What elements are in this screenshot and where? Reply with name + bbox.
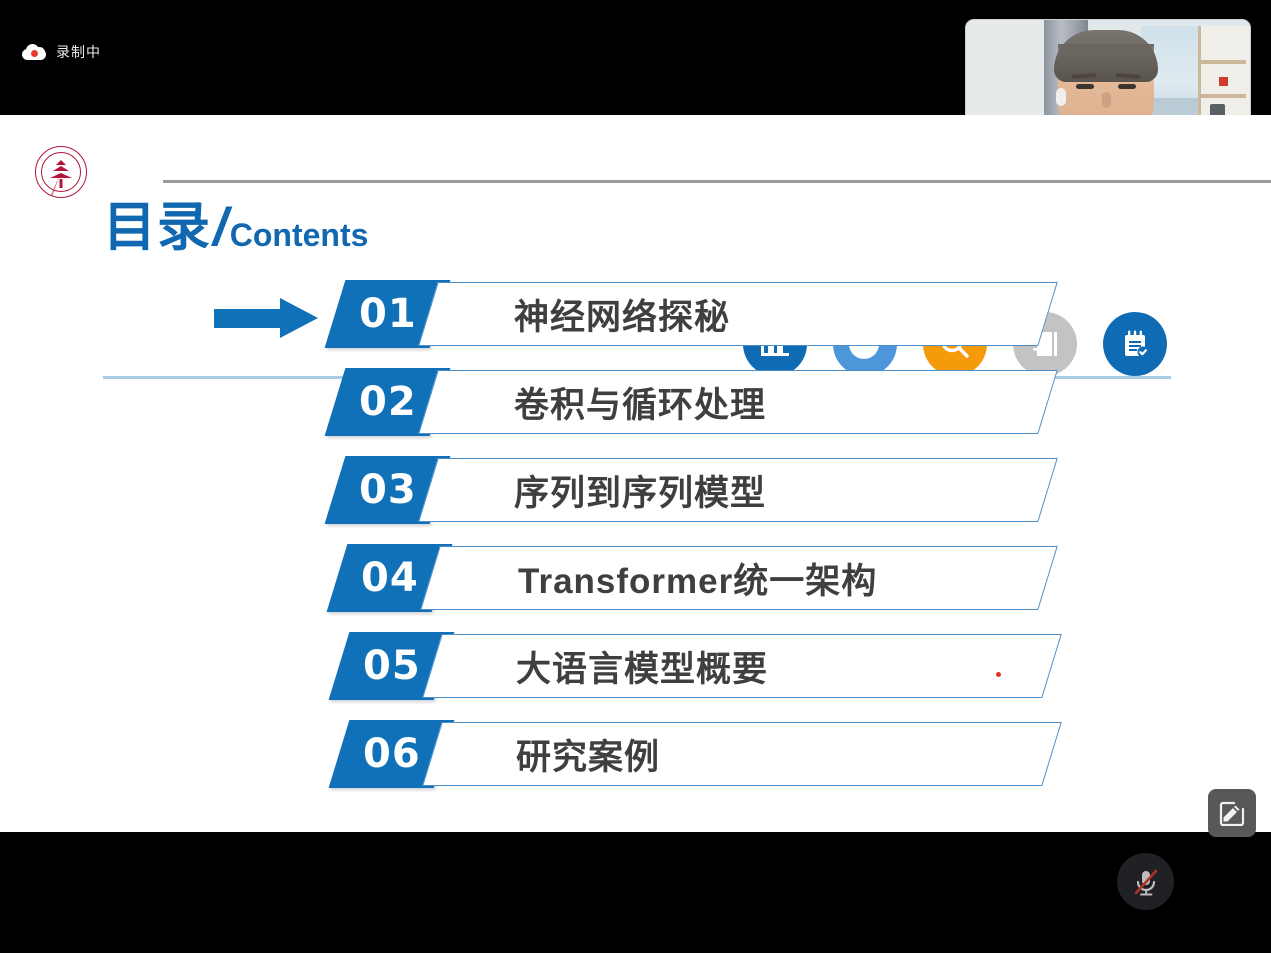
header-divider — [163, 180, 1271, 183]
current-item-arrow-icon — [214, 298, 319, 338]
annotation-dot — [996, 672, 1001, 677]
video-person-hair-shade — [1058, 44, 1154, 66]
recording-indicator: 录制中 — [22, 42, 101, 62]
contents-item-04[interactable]: 04 Transformer统一架构 — [0, 544, 1271, 632]
page-title-slash: / — [211, 201, 230, 254]
item-label: 序列到序列模型 — [514, 458, 766, 522]
page-title: 目录 / Contents — [103, 201, 368, 254]
cloud-record-icon — [22, 44, 46, 60]
video-person-eye — [1118, 84, 1136, 89]
contents-item-05[interactable]: 05 大语言模型概要 — [0, 632, 1271, 720]
item-label: 大语言模型概要 — [516, 634, 768, 698]
contents-item-02[interactable]: 02 卷积与循环处理 — [0, 368, 1271, 456]
video-person-nose — [1102, 92, 1111, 108]
contents-item-01[interactable]: 01 神经网络探秘 — [0, 280, 1271, 368]
page-title-cn: 目录 — [103, 201, 211, 254]
page-title-en: Contents — [230, 219, 369, 254]
contents-item-06[interactable]: 06 研究案例 — [0, 720, 1271, 808]
item-label: Transformer统一架构 — [518, 546, 877, 610]
video-horse-figurine — [1219, 77, 1228, 86]
contents-item-03[interactable]: 03 序列到序列模型 — [0, 456, 1271, 544]
video-person-eye — [1076, 84, 1094, 89]
university-logo — [35, 146, 87, 198]
item-label: 神经网络探秘 — [514, 282, 730, 346]
contents-list: 01 神经网络探秘 02 卷积与循环处理 03 序列到序列模型 — [0, 280, 1271, 808]
presentation-slide: 目录 / Contents — [0, 115, 1271, 832]
video-shelf-plank — [1200, 60, 1246, 64]
item-label: 卷积与循环处理 — [514, 370, 766, 434]
logo-tree-icon — [49, 160, 73, 188]
meeting-screen-share: 录制中 王仁武 — [0, 0, 1271, 953]
annotate-tool-button[interactable] — [1208, 789, 1256, 837]
video-person-earphone — [1056, 88, 1066, 106]
item-label: 研究案例 — [516, 722, 660, 786]
pen-square-icon — [1219, 800, 1245, 826]
recording-label: 录制中 — [56, 42, 101, 62]
microphone-mute-button[interactable] — [1117, 853, 1174, 910]
microphone-muted-icon — [1129, 865, 1163, 899]
video-shelf-plank — [1200, 94, 1246, 98]
